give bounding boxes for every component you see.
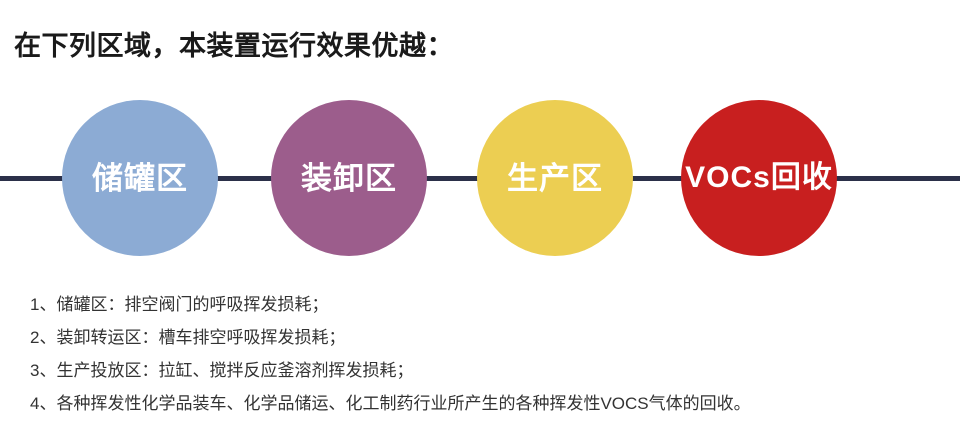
process-node-loading-unloading[interactable]: 装卸区 — [271, 100, 427, 256]
page-title: 在下列区域，本装置运行效果优越： — [14, 24, 454, 63]
slide-canvas: 在下列区域，本装置运行效果优越： 储罐区 装卸区 生产区 VOCs回收 1、储罐… — [0, 0, 960, 436]
process-node-label: VOCs回收 — [685, 163, 833, 193]
notes-list: 1、储罐区：排空阀门的呼吸挥发损耗； 2、装卸转运区：槽车排空呼吸挥发损耗； 3… — [30, 288, 940, 420]
process-node-label: 储罐区 — [92, 163, 188, 194]
process-node-vocs-recovery[interactable]: VOCs回收 — [681, 100, 837, 256]
process-node-label: 生产区 — [507, 163, 603, 194]
process-node-storage-tank[interactable]: 储罐区 — [62, 100, 218, 256]
list-item: 1、储罐区：排空阀门的呼吸挥发损耗； — [30, 288, 940, 321]
list-item: 3、生产投放区：拉缸、搅拌反应釜溶剂挥发损耗； — [30, 354, 940, 387]
process-node-label: 装卸区 — [301, 163, 397, 194]
list-item: 4、各种挥发性化学品装车、化学品储运、化工制药行业所产生的各种挥发性VOCS气体… — [30, 387, 940, 420]
process-node-production[interactable]: 生产区 — [477, 100, 633, 256]
list-item: 2、装卸转运区：槽车排空呼吸挥发损耗； — [30, 321, 940, 354]
process-diagram: 储罐区 装卸区 生产区 VOCs回收 — [0, 96, 960, 266]
